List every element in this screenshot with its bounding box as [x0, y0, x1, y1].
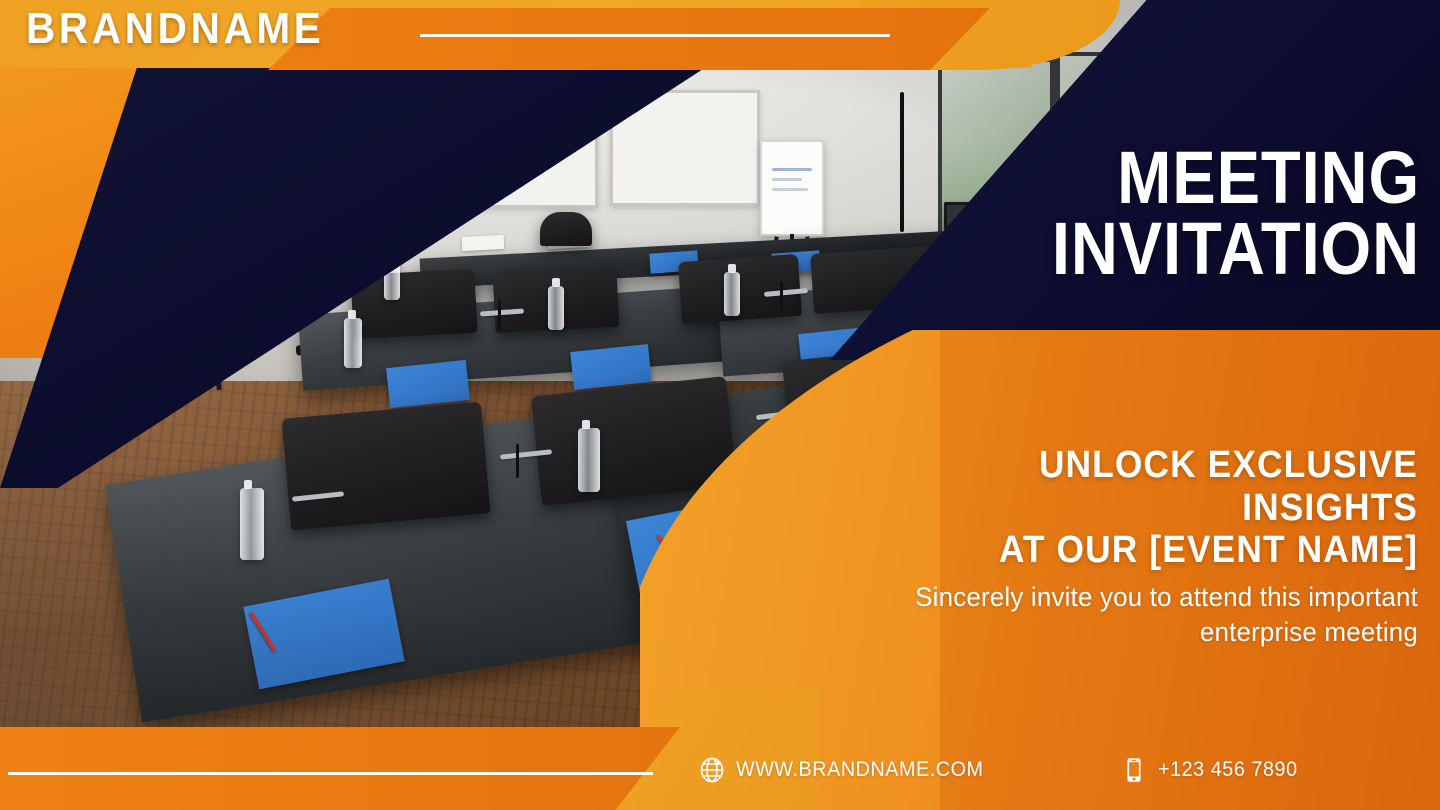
website-text: WWW.BRANDNAME.COM — [736, 758, 984, 782]
headline: UNLOCK EXCLUSIVE INSIGHTS AT OUR [EVENT … — [879, 444, 1418, 572]
header-rule — [420, 34, 890, 37]
footer-rule — [8, 772, 653, 775]
headline-line-2: AT OUR [EVENT NAME] — [879, 529, 1418, 572]
website-contact[interactable]: WWW.BRANDNAME.COM — [698, 756, 999, 784]
smartphone-icon — [1120, 756, 1148, 784]
subtext-line-2: enterprise meeting — [1200, 617, 1418, 647]
globe-icon — [698, 756, 726, 784]
meeting-invitation-poster: BRANDNAME MEETING INVITATION UNLOCK EXCL… — [0, 0, 1440, 810]
subtext-line-1: Sincerely invite you to attend this impo… — [915, 582, 1418, 612]
phone-contact[interactable]: +123 456 7890 — [1120, 756, 1307, 784]
subtext: Sincerely invite you to attend this impo… — [832, 580, 1418, 649]
brand-name: BRANDNAME — [26, 7, 324, 51]
phone-text: +123 456 7890 — [1158, 758, 1298, 782]
page-title: MEETING INVITATION — [927, 142, 1420, 284]
headline-line-1: UNLOCK EXCLUSIVE INSIGHTS — [1039, 444, 1418, 529]
title-line-2: INVITATION — [927, 213, 1420, 284]
